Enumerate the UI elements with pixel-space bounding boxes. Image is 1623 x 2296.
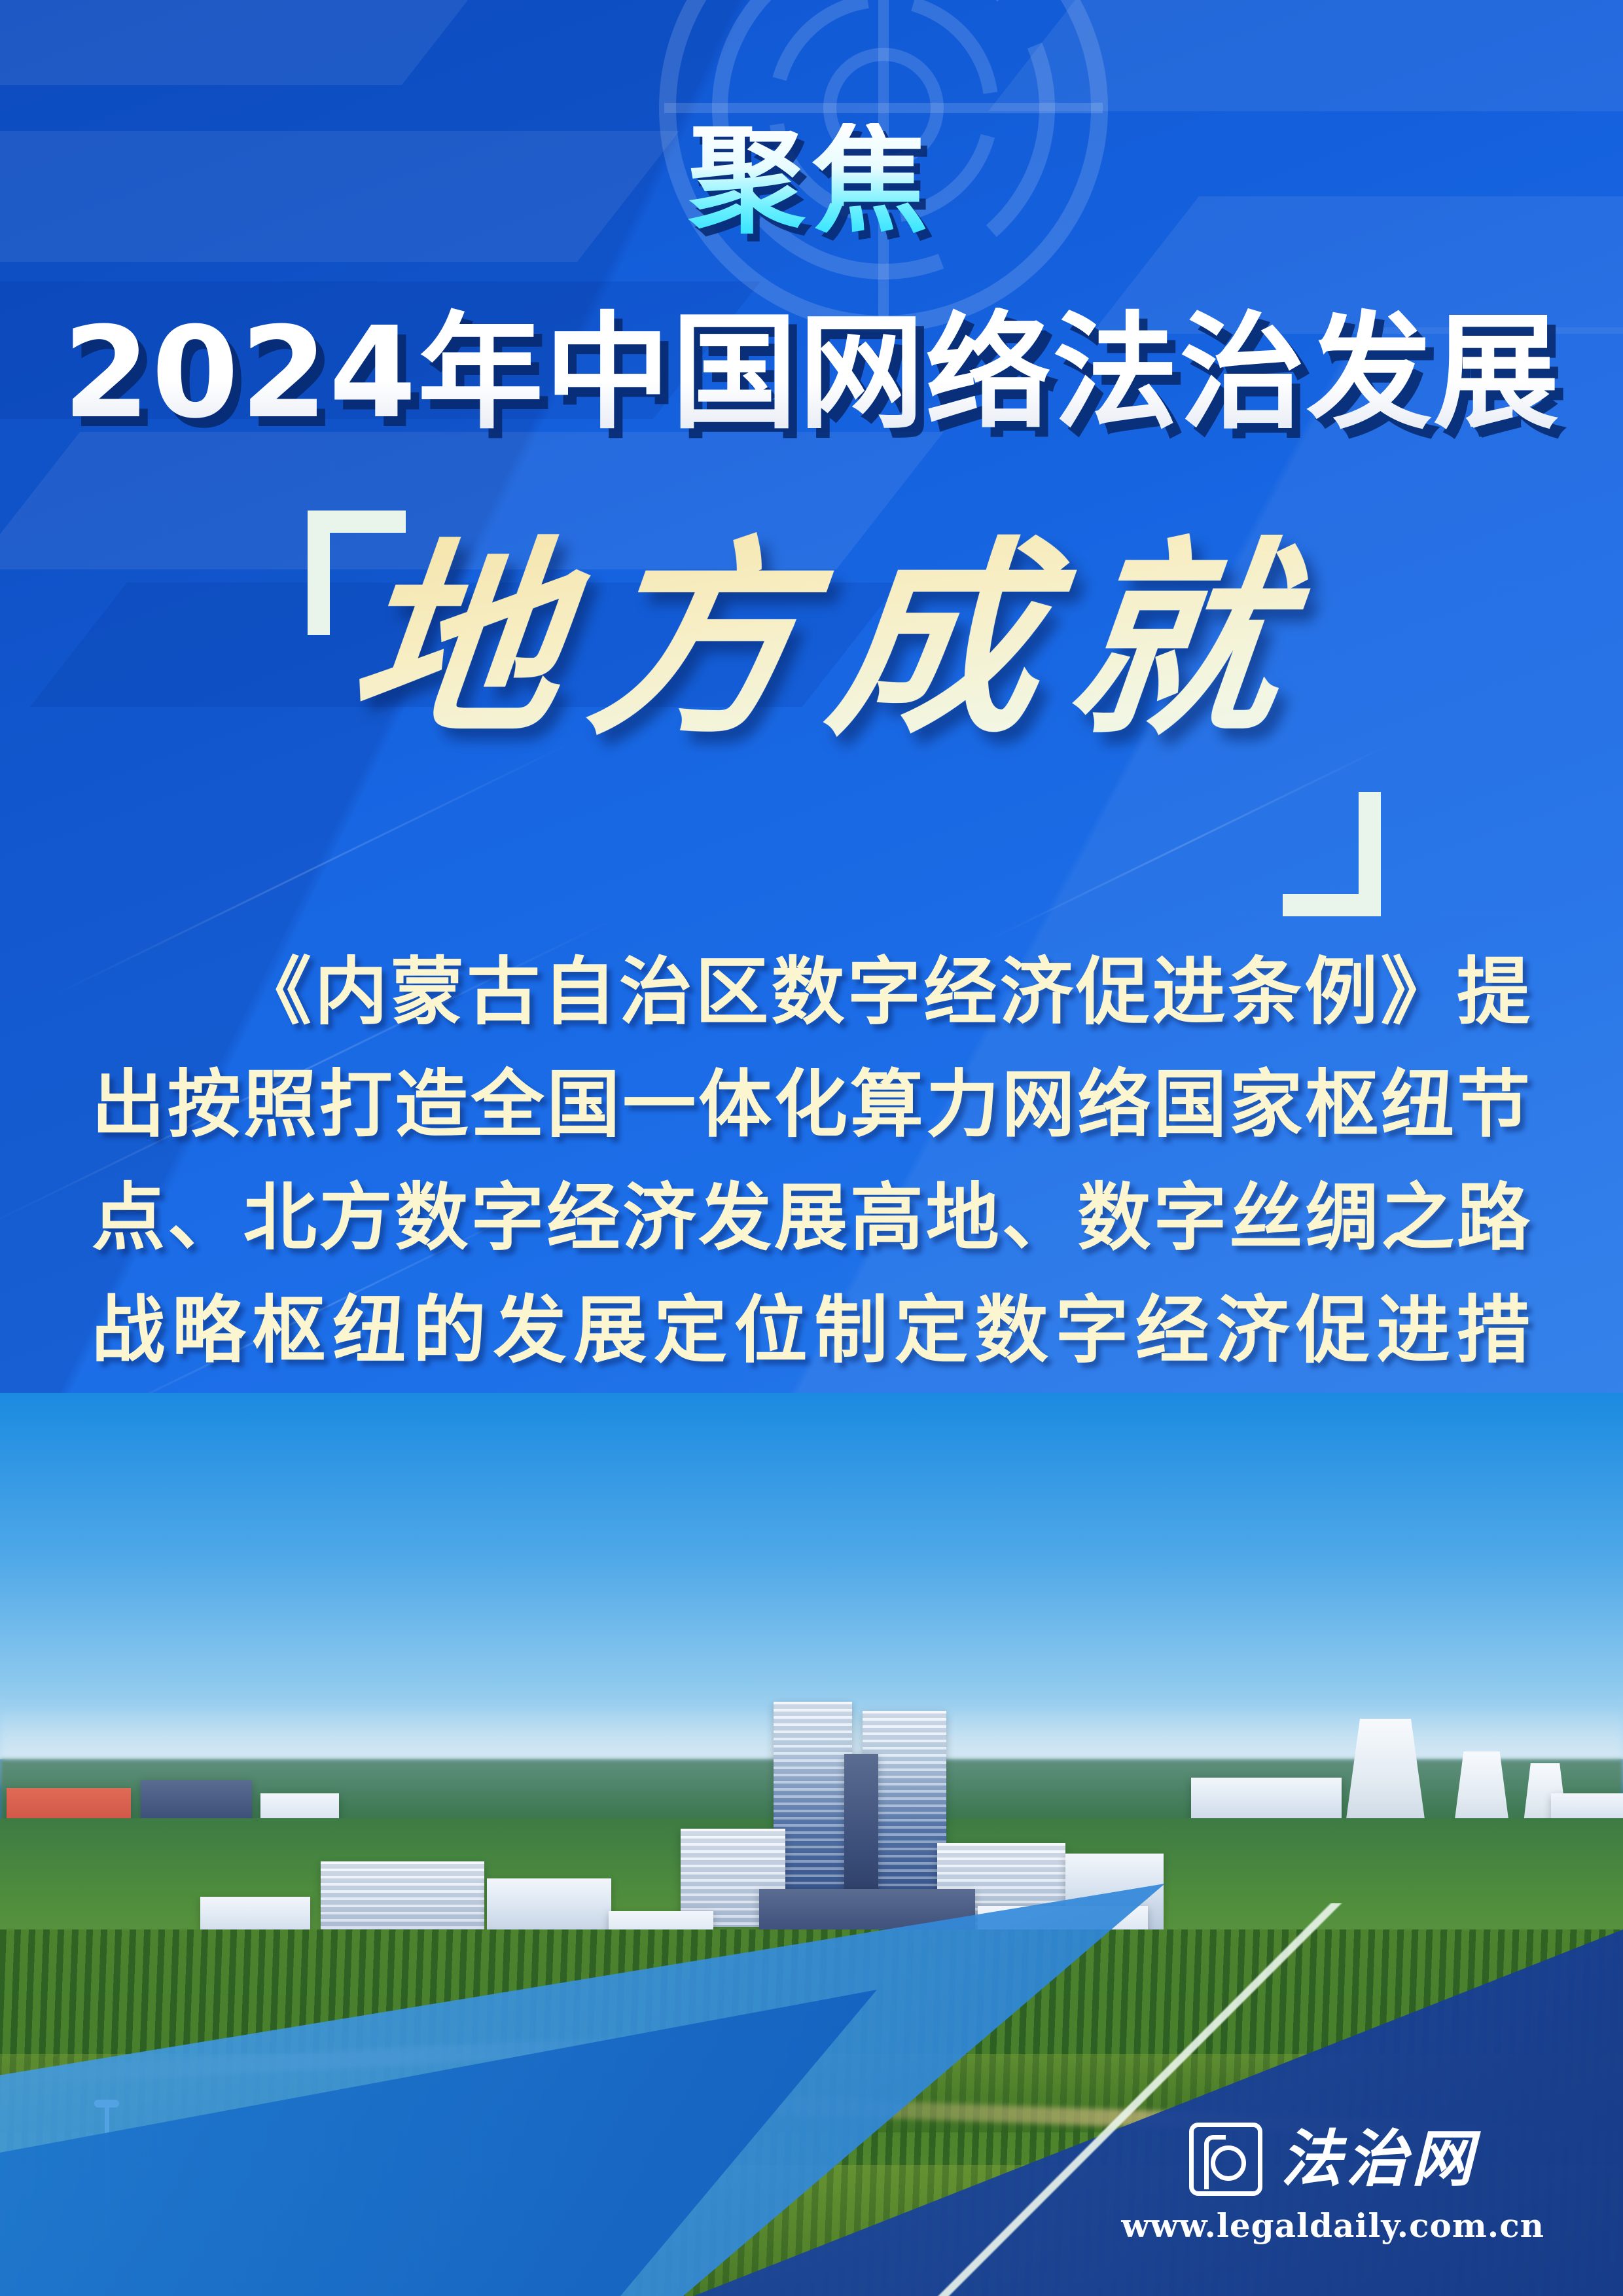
photo-tower [774, 1702, 852, 1918]
eyebrow-title: 聚焦 [0, 123, 1623, 240]
calligraphy-subtitle: 地方成就 [269, 524, 1393, 758]
page-title: 2024年中国网络法治发展 [0, 308, 1623, 440]
legal-daily-seal-icon [1189, 2123, 1262, 2196]
background-band [0, 0, 488, 85]
poster-canvas: 聚焦 2024年中国网络法治发展 地方成就 《内蒙古自治区数字经济促进条例》提出… [0, 0, 1623, 2296]
background-band [988, 0, 1623, 111]
corner-bracket-bottom-right-icon [1283, 792, 1381, 916]
legal-daily-logo[interactable]: 法治网 www.legaldaily.com.cn [1121, 2123, 1544, 2245]
photo-street-lamp [105, 2100, 109, 2237]
calligraphy-block: 地方成就 [281, 497, 1381, 851]
logo-name: 法治网 [1281, 2128, 1477, 2190]
photo-building [321, 1861, 484, 1940]
logo-url[interactable]: www.legaldaily.com.cn [1121, 2206, 1544, 2245]
logo-row: 法治网 [1121, 2123, 1544, 2196]
